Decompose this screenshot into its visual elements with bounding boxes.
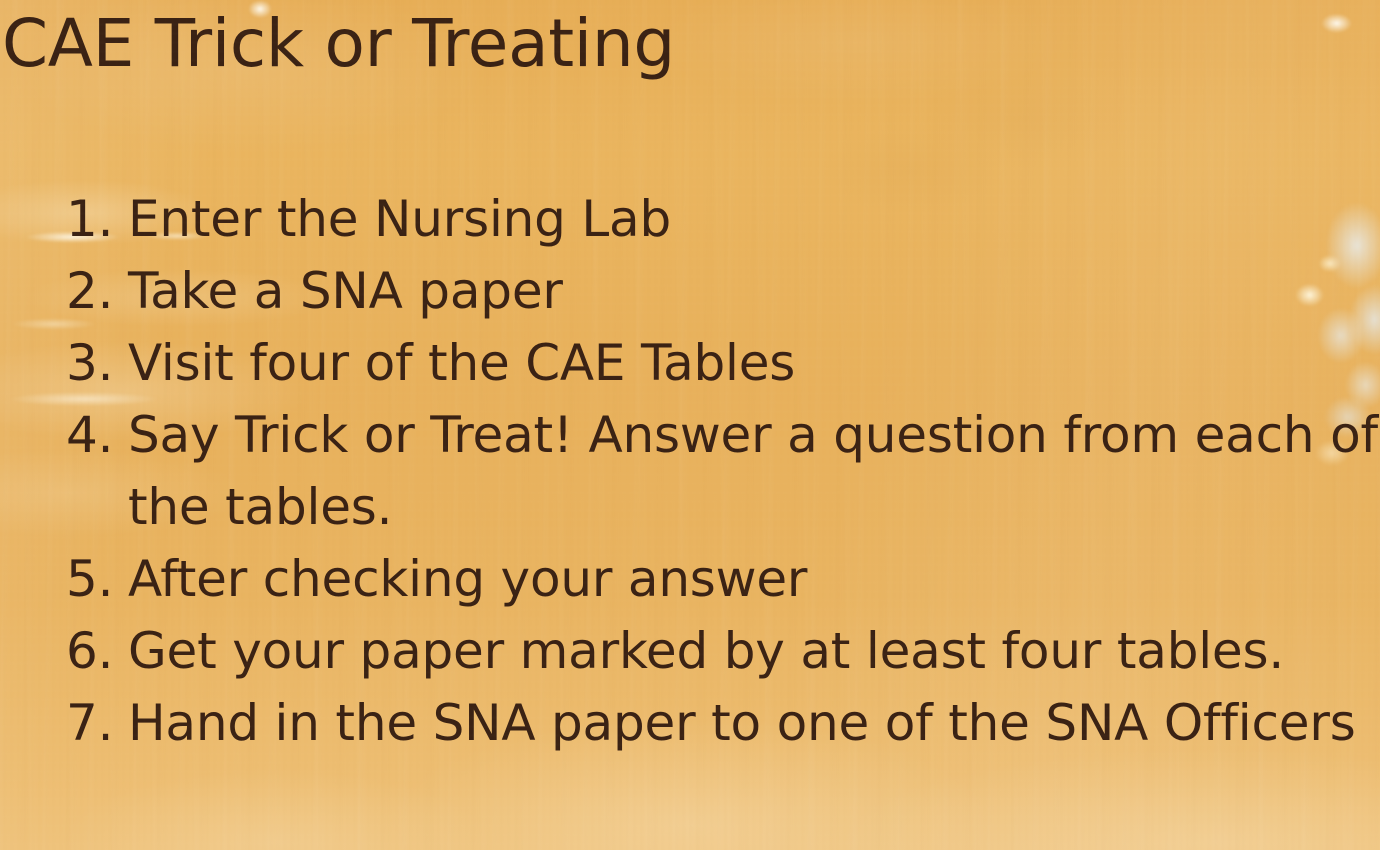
- list-item-number: 5.: [0, 543, 128, 615]
- list-item: 3. Visit four of the CAE Tables: [0, 327, 1380, 399]
- instructions-list: 1. Enter the Nursing Lab 2. Take a SNA p…: [0, 183, 1380, 759]
- list-item-number: 1.: [0, 183, 128, 255]
- list-item-number: 3.: [0, 327, 128, 399]
- list-item-text: Visit four of the CAE Tables: [128, 327, 1380, 399]
- list-item: 1. Enter the Nursing Lab: [0, 183, 1380, 255]
- slide-content: CAE Trick or Treating 1. Enter the Nursi…: [0, 0, 1380, 850]
- list-item: 2. Take a SNA paper: [0, 255, 1380, 327]
- list-item-text: Say Trick or Treat! Answer a question fr…: [128, 399, 1380, 543]
- list-item-text: Get your paper marked by at least four t…: [128, 615, 1380, 687]
- list-item-text: Enter the Nursing Lab: [128, 183, 1380, 255]
- list-item-number: 6.: [0, 615, 128, 687]
- list-item-number: 2.: [0, 255, 128, 327]
- list-item-number: 4.: [0, 399, 128, 471]
- list-item-text: Hand in the SNA paper to one of the SNA …: [128, 687, 1380, 759]
- list-item: 5. After checking your answer: [0, 543, 1380, 615]
- presentation-slide: CAE Trick or Treating 1. Enter the Nursi…: [0, 0, 1380, 850]
- list-item-text: Take a SNA paper: [128, 255, 1380, 327]
- list-item-text: After checking your answer: [128, 543, 1380, 615]
- slide-title: CAE Trick or Treating: [2, 8, 675, 79]
- list-item: 7. Hand in the SNA paper to one of the S…: [0, 687, 1380, 759]
- list-item-number: 7.: [0, 687, 128, 759]
- list-item: 4. Say Trick or Treat! Answer a question…: [0, 399, 1380, 543]
- list-item: 6. Get your paper marked by at least fou…: [0, 615, 1380, 687]
